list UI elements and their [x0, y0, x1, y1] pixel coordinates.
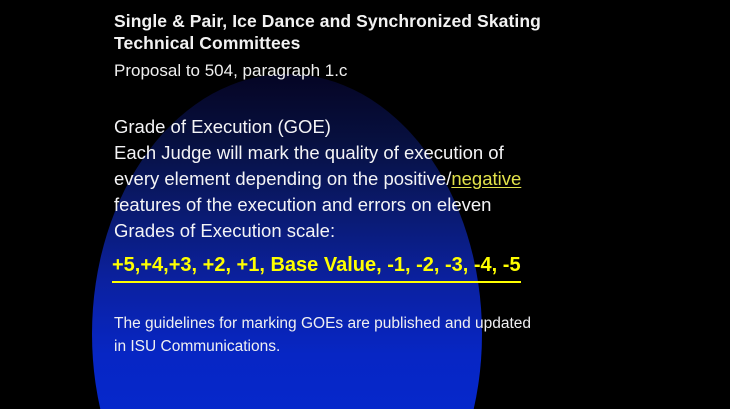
slide-body: Grade of Execution (GOE) Each Judge will…	[114, 114, 714, 244]
goe-scale-values: +5,+4,+3, +2, +1, Base Value, -1, -2, -3…	[112, 252, 521, 283]
presentation-slide: Single & Pair, Ice Dance and Synchronize…	[0, 0, 730, 409]
body-line-2: Each Judge will mark the quality of exec…	[114, 140, 714, 166]
body-line-5: Grades of Execution scale:	[114, 218, 714, 244]
footer-line-1: The guidelines for marking GOEs are publ…	[114, 312, 714, 335]
keyword-negative: negative	[451, 168, 521, 189]
slide-subtitle: Proposal to 504, paragraph 1.c	[114, 60, 714, 82]
slide-content: Single & Pair, Ice Dance and Synchronize…	[0, 0, 730, 409]
slide-header: Single & Pair, Ice Dance and Synchronize…	[114, 10, 714, 82]
body-line-4: features of the execution and errors on …	[114, 192, 714, 218]
footer-line-2: in ISU Communications.	[114, 335, 714, 358]
slide-footer: The guidelines for marking GOEs are publ…	[114, 312, 714, 358]
body-line-goe-heading: Grade of Execution (GOE)	[114, 114, 714, 140]
body-line-3: every element depending on the positive/…	[114, 166, 714, 192]
slide-title-line-1: Single & Pair, Ice Dance and Synchronize…	[114, 10, 714, 32]
slide-title-line-2: Technical Committees	[114, 32, 714, 54]
body-line-3-text: every element depending on the positive/	[114, 168, 451, 189]
